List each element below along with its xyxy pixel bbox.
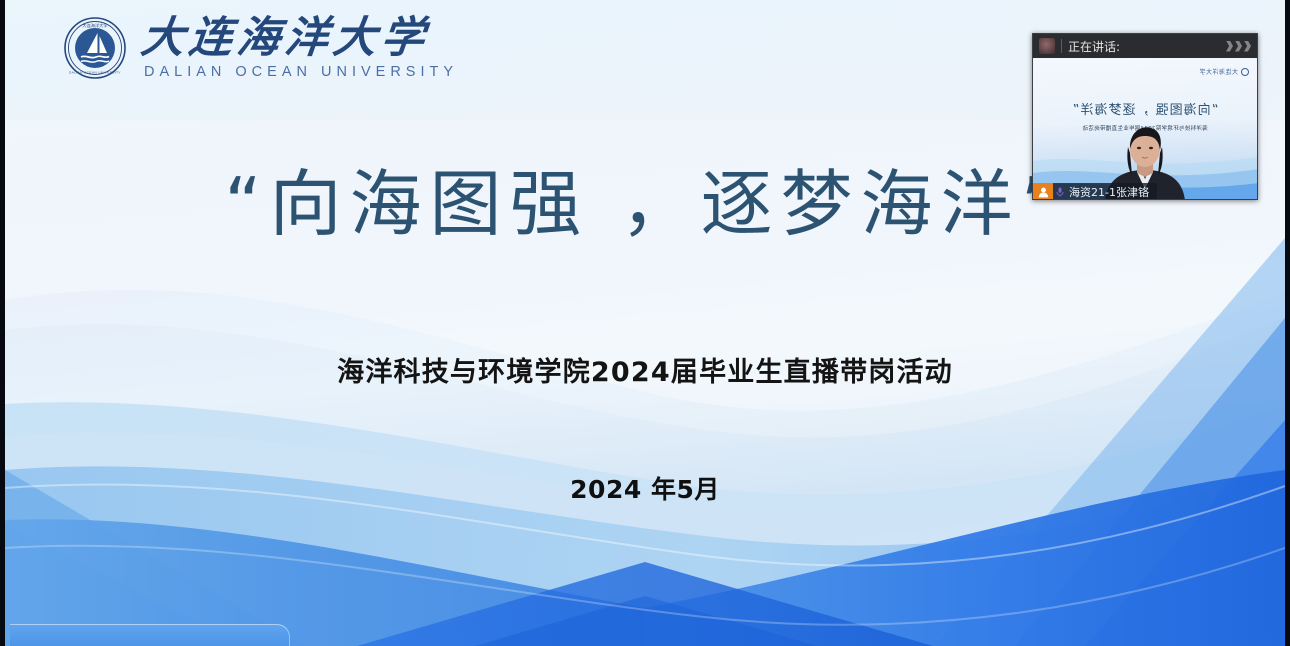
participant-name-bar: 海资21-1张津铬 <box>1033 183 1157 200</box>
mini-slide-title: “向海图强 ，逐梦海洋” <box>1033 99 1257 118</box>
now-speaking-label: 正在讲话: <box>1068 38 1220 55</box>
mini-university-logo: 大连海洋大学 <box>1199 67 1249 76</box>
logo-wordmark: 大连海洋大学 DALIAN OCEAN UNIVERSITY <box>141 16 458 79</box>
microphone-active-icon <box>1053 183 1067 200</box>
mini-logo-text: 大连海洋大学 <box>1199 67 1238 76</box>
svg-text:大连海洋大学: 大连海洋大学 <box>82 22 107 29</box>
university-seal-icon: 大连海洋大学 DALIAN OCEAN UNIVERSITY <box>63 16 127 80</box>
mini-seal-icon <box>1241 68 1249 76</box>
university-logo: 大连海洋大学 DALIAN OCEAN UNIVERSITY 大连海洋大学 DA… <box>63 16 458 80</box>
speaker-thumbnail-icon <box>1039 38 1055 54</box>
logo-name-en: DALIAN OCEAN UNIVERSITY <box>144 64 458 80</box>
user-avatar-icon <box>1033 183 1053 200</box>
header-divider <box>1061 39 1062 53</box>
video-stage[interactable]: 大连海洋大学 “向海图强 ，逐梦海洋” 海洋科技与环境学院2024届毕业生直播带… <box>1033 58 1257 200</box>
slide-subtitle: 海洋科技与环境学院2024届毕业生直播带岗活动 <box>5 350 1285 389</box>
logo-name-cn: 大连海洋大学 <box>139 16 432 62</box>
svg-text:DALIAN OCEAN UNIVERSITY: DALIAN OCEAN UNIVERSITY <box>69 71 121 75</box>
slide-date: 2024 年5月 <box>5 470 1285 506</box>
bottom-toolbar-sliver[interactable] <box>10 624 290 646</box>
chevrons-right-icon[interactable] <box>1226 41 1251 52</box>
video-conference-panel[interactable]: 正在讲话: 大连海洋大学 “向海图强 ，逐梦海洋” 海洋科技与环境学院2024届… <box>1032 33 1258 200</box>
video-panel-header[interactable]: 正在讲话: <box>1033 34 1257 58</box>
participant-name: 海资21-1张津铬 <box>1067 184 1149 200</box>
screen-frame: 大连海洋大学 DALIAN OCEAN UNIVERSITY 大连海洋大学 DA… <box>0 0 1290 646</box>
